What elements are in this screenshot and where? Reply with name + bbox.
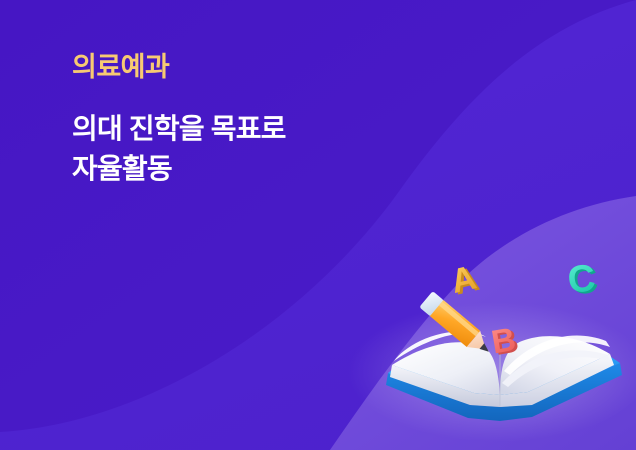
banner-eyebrow: 의료예과: [72, 52, 286, 83]
letter-c: C C: [566, 257, 600, 304]
letter-b: B B: [488, 319, 521, 362]
banner-copy: 의료예과 의대 진학을 목표로 자율활동: [72, 52, 286, 189]
open-book-illustration: A A B B C C: [370, 255, 636, 450]
promo-banner: 의료예과 의대 진학을 목표로 자율활동: [0, 0, 636, 450]
letter-c-face: C: [566, 257, 598, 302]
banner-headline: 의대 진학을 목표로 자율활동: [72, 109, 286, 189]
letter-a: A A: [447, 258, 482, 303]
